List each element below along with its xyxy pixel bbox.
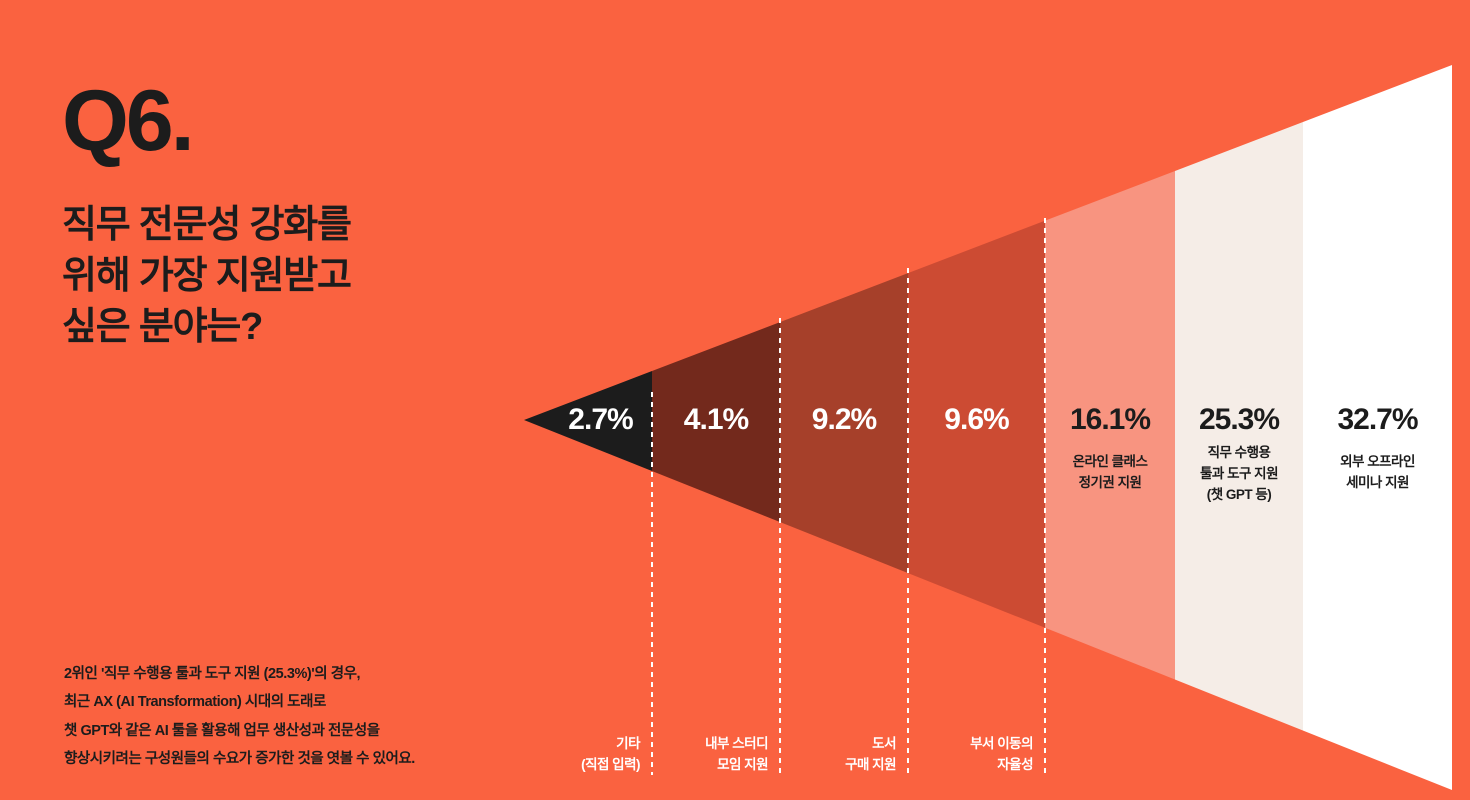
axis-caption-2-line-2: 모임 지원 [640, 754, 768, 776]
insight-note: 2위인 '직무 수행용 툴과 도구 지원 (25.3%)'의 경우, 최근 AX… [64, 660, 494, 773]
segment-caption-6-line-2: 툴과 도구 지원 [1175, 464, 1303, 485]
insight-note-line-2: 최근 AX (AI Transformation) 시대의 도래로 [64, 688, 494, 716]
segment-caption-5-line-2: 정기권 지원 [1045, 473, 1175, 494]
axis-caption-4-line-2: 자율성 [896, 754, 1033, 776]
funnel-segment-6[interactable] [1175, 0, 1303, 800]
axis-caption-2: 내부 스터디 모임 지원 [640, 733, 768, 776]
page-title-line-3: 싶은 분야는? [62, 302, 492, 353]
segment-caption-6-line-3: (챗 GPT 등) [1175, 485, 1303, 506]
insight-note-line-3: 챗 GPT와 같은 AI 툴을 활용해 업무 생산성과 전문성을 [64, 717, 494, 745]
page-title: 직무 전문성 강화를 위해 가장 지원받고 싶은 분야는? [62, 200, 492, 353]
insight-note-line-1: 2위인 '직무 수행용 툴과 도구 지원 (25.3%)'의 경우, [64, 660, 494, 688]
segment-caption-5-line-1: 온라인 클래스 [1045, 452, 1175, 473]
segment-value-1: 2.7% [549, 405, 652, 435]
segment-caption-7: 외부 오프라인 세미나 지원 [1303, 452, 1452, 494]
segment-value-6: 25.3% [1175, 405, 1303, 435]
segment-value-5: 16.1% [1045, 405, 1175, 435]
page-title-line-2: 위해 가장 지원받고 [62, 251, 492, 302]
funnel-segment-4[interactable] [908, 0, 1045, 800]
axis-caption-3-line-1: 도서 [768, 733, 896, 755]
axis-caption-1: 기타 (직접 입력) [512, 733, 640, 776]
segment-value-7: 32.7% [1303, 405, 1452, 435]
segment-caption-7-line-1: 외부 오프라인 [1303, 452, 1452, 473]
axis-caption-3: 도서 구매 지원 [768, 733, 896, 776]
funnel-segment-2[interactable] [652, 0, 780, 800]
funnel-segment-7[interactable] [1303, 0, 1458, 800]
segment-value-2: 4.1% [652, 405, 780, 435]
axis-caption-2-line-1: 내부 스터디 [640, 733, 768, 755]
segment-value-4: 9.6% [908, 405, 1045, 435]
slide-canvas: Q6. 직무 전문성 강화를 위해 가장 지원받고 싶은 분야는? 2위인 '직… [0, 0, 1470, 800]
axis-caption-1-line-1: 기타 [512, 733, 640, 755]
segment-caption-6-line-1: 직무 수행용 [1175, 443, 1303, 464]
segment-value-3: 9.2% [780, 405, 908, 435]
insight-note-line-4: 향상시키려는 구성원들의 수요가 증가한 것을 엿볼 수 있어요. [64, 745, 494, 773]
axis-caption-4-line-1: 부서 이동의 [896, 733, 1033, 755]
segment-caption-5: 온라인 클래스 정기권 지원 [1045, 452, 1175, 494]
page-title-line-1: 직무 전문성 강화를 [62, 200, 492, 251]
segment-caption-7-line-2: 세미나 지원 [1303, 473, 1452, 494]
question-number: Q6. [62, 78, 192, 164]
funnel-segment-5[interactable] [1045, 0, 1175, 800]
axis-caption-1-line-2: (직접 입력) [512, 754, 640, 776]
segment-caption-6: 직무 수행용 툴과 도구 지원 (챗 GPT 등) [1175, 443, 1303, 506]
axis-caption-3-line-2: 구매 지원 [768, 754, 896, 776]
axis-caption-4: 부서 이동의 자율성 [896, 733, 1033, 776]
funnel-segment-3[interactable] [780, 0, 908, 800]
